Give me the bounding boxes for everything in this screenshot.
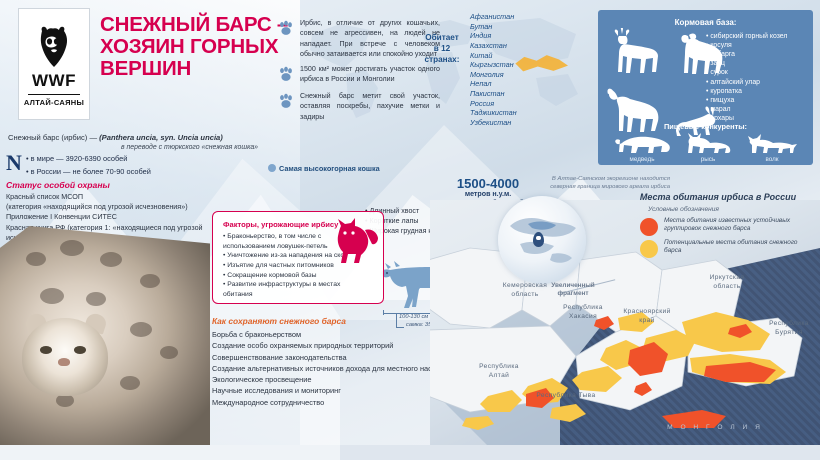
threat-factors-list: Браконьерство, в том числе с использован… xyxy=(223,232,351,299)
population-world: в мире — 3920-6390 особей xyxy=(26,153,151,166)
competitor-label: рысь xyxy=(680,156,736,163)
wwf-subtitle: АЛТАЙ-САЯНЫ xyxy=(24,98,84,107)
threat-item: Изъятие для частных питомников xyxy=(223,261,351,271)
paw-fact-2: 1500 км² может достигать участок одного … xyxy=(300,64,440,85)
location-pin-icon xyxy=(533,232,544,247)
status-heading: Статус особой охраны xyxy=(6,180,110,190)
habitat-country-list: Афганистан Бутан Индия Казахстан Китай К… xyxy=(470,12,560,128)
country-item: Кыргызстан xyxy=(470,60,560,70)
food-base-title: Кормовая база: xyxy=(598,18,813,27)
country-item: Непал xyxy=(470,79,560,89)
leopard-nose xyxy=(58,358,70,366)
competitor-label: волк xyxy=(744,156,800,163)
wwf-logo: WWF АЛТАЙ-САЯНЫ xyxy=(18,8,90,120)
definition-main: Снежный барс (ирбис) — xyxy=(8,133,99,142)
body-length-label: 100-130 см xyxy=(399,314,428,320)
conservation-item: Экологическое просвещение xyxy=(212,374,462,385)
paw-fact-3: Снежный барс метит свой участок, оставля… xyxy=(300,91,440,122)
legend-dot-potential xyxy=(640,240,658,258)
threat-factors-box: Факторы, угрожающие ирбису Браконьерство… xyxy=(212,211,384,304)
country-item: Китай xyxy=(470,51,560,61)
paw-print-icon-2 xyxy=(278,66,294,82)
legend-subtitle: Условные обозначения xyxy=(648,206,719,213)
wolf-icon xyxy=(746,132,798,156)
region-label-altai: Республика Алтай xyxy=(466,363,532,380)
bear-icon xyxy=(614,132,672,156)
threat-item: Развитие инфраструктуры в местах обитани… xyxy=(223,280,351,299)
definition-latin: (Panthera uncia, syn. Uncia uncia) xyxy=(99,133,223,142)
status-line-3: Приложение I Конвенции СИТЕС xyxy=(6,212,221,222)
conservation-item: Создание особо охраняемых природных терр… xyxy=(212,340,462,351)
region-label-buryatia: Республика Бурятия xyxy=(758,320,820,337)
population-russia: в России — не более 70-90 особей xyxy=(26,166,151,179)
highest-cat-note: Самая высокогорная кошка xyxy=(268,164,380,173)
country-item: Пакистан xyxy=(470,89,560,99)
female-weight-leader xyxy=(396,313,397,327)
conservation-item: Международное сотрудничество xyxy=(212,397,462,408)
panda-icon xyxy=(34,25,74,69)
food-item: косуля xyxy=(706,41,811,50)
logo-divider xyxy=(28,94,80,95)
country-item: Казахстан xyxy=(470,41,560,51)
paw-print-icon-3 xyxy=(278,93,294,109)
food-item: марал xyxy=(706,105,811,114)
country-item: Узбекистан xyxy=(470,118,560,128)
threat-factors-title: Факторы, угрожающие ирбису xyxy=(223,220,338,229)
country-item: Таджикистан xyxy=(470,108,560,118)
country-item: Афганистан xyxy=(470,12,560,22)
country-item: Россия xyxy=(470,99,560,109)
infographic-canvas: WWF АЛТАЙ-САЯНЫ Снежный барс – хозяин го… xyxy=(0,0,820,445)
definition-translation: в переводе с тюркского «снежная кошка» xyxy=(8,143,258,152)
conservation-item: Борьба с браконьерством xyxy=(212,329,462,340)
region-label-irkutsk: Иркутская область xyxy=(694,274,760,291)
population-marker: N xyxy=(6,152,22,174)
food-base-list: сибирский горный козел косуля кабарга за… xyxy=(706,32,811,123)
leopard-face xyxy=(22,318,108,396)
region-label-tyva: Республика Тыва xyxy=(530,392,602,401)
species-definition: Снежный барс (ирбис) — (Panthera uncia, … xyxy=(8,133,258,153)
food-item: куропатка xyxy=(706,87,811,96)
measure-tick xyxy=(383,310,384,315)
country-item: Монголия xyxy=(470,70,560,80)
paw-print-icon xyxy=(278,20,294,36)
habitat-countries-label: Обитает в 12 странах: xyxy=(418,32,466,65)
threat-item: Уничтожение из-за нападения на скот xyxy=(223,251,351,261)
wwf-wordmark: WWF xyxy=(32,71,76,91)
page-title: Снежный барс – хозяин горных вершин xyxy=(100,14,290,80)
map-title: Места обитания ирбиса в России xyxy=(620,192,816,202)
female-weight-leader-h xyxy=(396,327,404,328)
leopard-eye-left xyxy=(40,346,52,354)
conservation-item: Создание альтернативных источников доход… xyxy=(212,363,462,374)
snow-leopard-silhouette-icon xyxy=(335,218,379,264)
region-label-kemerovo: Кемеровская область xyxy=(492,282,558,299)
threat-item: Сокращение кормовой базы xyxy=(223,271,351,281)
competitor-label: медведь xyxy=(614,156,670,163)
food-item: пищуха xyxy=(706,96,811,105)
north-boundary-note: В Алтае-Саянском экорегионе находится се… xyxy=(540,176,670,191)
region-label-khakassia: Республика Хакасия xyxy=(550,304,616,321)
conservation-item: Совершенствование законодательства xyxy=(212,352,462,363)
legend-text-confirmed: Места обитания известных устойчивых груп… xyxy=(664,217,816,234)
bullet-dot-icon xyxy=(268,164,276,172)
competitors-title: Пищевые конкуренты: xyxy=(598,122,813,131)
food-base-panel: Кормовая база: xyxy=(598,10,813,165)
legend-dot-confirmed xyxy=(640,218,658,236)
country-label-mongolia: М О Н Г О Л И Я xyxy=(640,424,790,431)
conservation-list: Борьба с браконьерством Создание особо о… xyxy=(212,329,462,408)
food-item: кабарга xyxy=(706,50,811,59)
lynx-icon xyxy=(684,132,734,156)
food-item: алтайский улар xyxy=(706,78,811,87)
country-item: Бутан xyxy=(470,22,560,32)
highest-cat-text: Самая высокогорная кошка xyxy=(279,164,380,173)
food-item: сурок xyxy=(706,68,811,77)
status-line-2: (категория «находящийся под угрозой исче… xyxy=(6,202,221,212)
food-item: заяц xyxy=(706,59,811,68)
threat-item: Браконьерство, в том числе с использован… xyxy=(223,232,351,251)
legend-text-potential: Потенциальные места обитания снежного ба… xyxy=(664,239,816,256)
conservation-title: Как сохраняют снежного барса xyxy=(212,316,346,326)
conservation-item: Научные исследования и мониторинг xyxy=(212,385,462,396)
deer-icon xyxy=(606,28,664,78)
altitude-value: 1500-4000 xyxy=(418,176,558,191)
leopard-eye-right xyxy=(74,346,86,354)
region-label-krasnoyarsk: Красноярский край xyxy=(614,308,680,325)
country-item: Индия xyxy=(470,31,560,41)
status-line-1: Красный список МСОП xyxy=(6,192,221,202)
population-counts: в мире — 3920-6390 особей в России — не … xyxy=(26,153,151,178)
food-item: сибирский горный козел xyxy=(706,32,811,41)
